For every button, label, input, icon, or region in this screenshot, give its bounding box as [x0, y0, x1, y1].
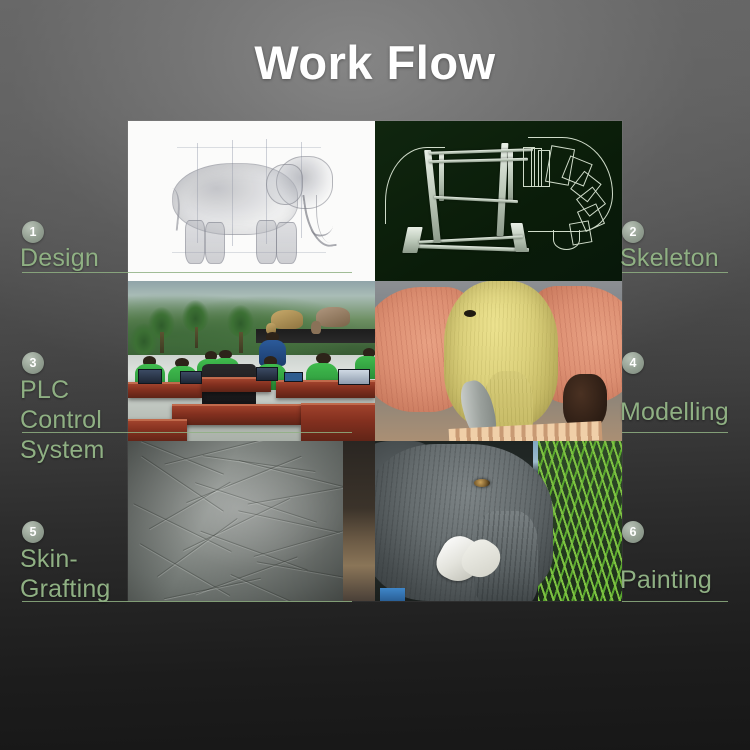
step-image-design[interactable]: [128, 121, 375, 281]
step-image-modelling[interactable]: [375, 281, 622, 441]
step-label-modelling: Modelling: [620, 397, 729, 427]
page-title: Work Flow: [0, 38, 750, 87]
step-image-skeleton[interactable]: [375, 121, 622, 281]
step-rule-1: [22, 272, 352, 273]
step-label-skin-grafting: Skin- Grafting: [20, 544, 111, 604]
step-rule-5: [22, 601, 352, 602]
image-grid: [128, 121, 622, 601]
step-label-painting: Painting: [620, 565, 712, 595]
step-image-plc-control-system[interactable]: [128, 281, 375, 441]
step-label-plc-control-system: PLC Control System: [20, 375, 128, 465]
step-badge-1: 1: [22, 221, 44, 243]
step-label-skeleton: Skeleton: [620, 243, 719, 273]
step-rule-6: [622, 601, 728, 602]
step-badge-3: 3: [22, 352, 44, 374]
step-rule-3: [22, 432, 352, 433]
step-rule-4: [622, 432, 728, 433]
step-image-painting[interactable]: [375, 441, 622, 601]
step-badge-4: 4: [622, 352, 644, 374]
step-badge-2: 2: [622, 221, 644, 243]
step-label-design: Design: [20, 243, 99, 273]
step-image-skin-grafting[interactable]: [128, 441, 375, 601]
step-badge-6: 6: [622, 521, 644, 543]
work-flow-infographic: Work Flow: [0, 0, 750, 750]
step-rule-2: [622, 272, 728, 273]
step-badge-5: 5: [22, 521, 44, 543]
